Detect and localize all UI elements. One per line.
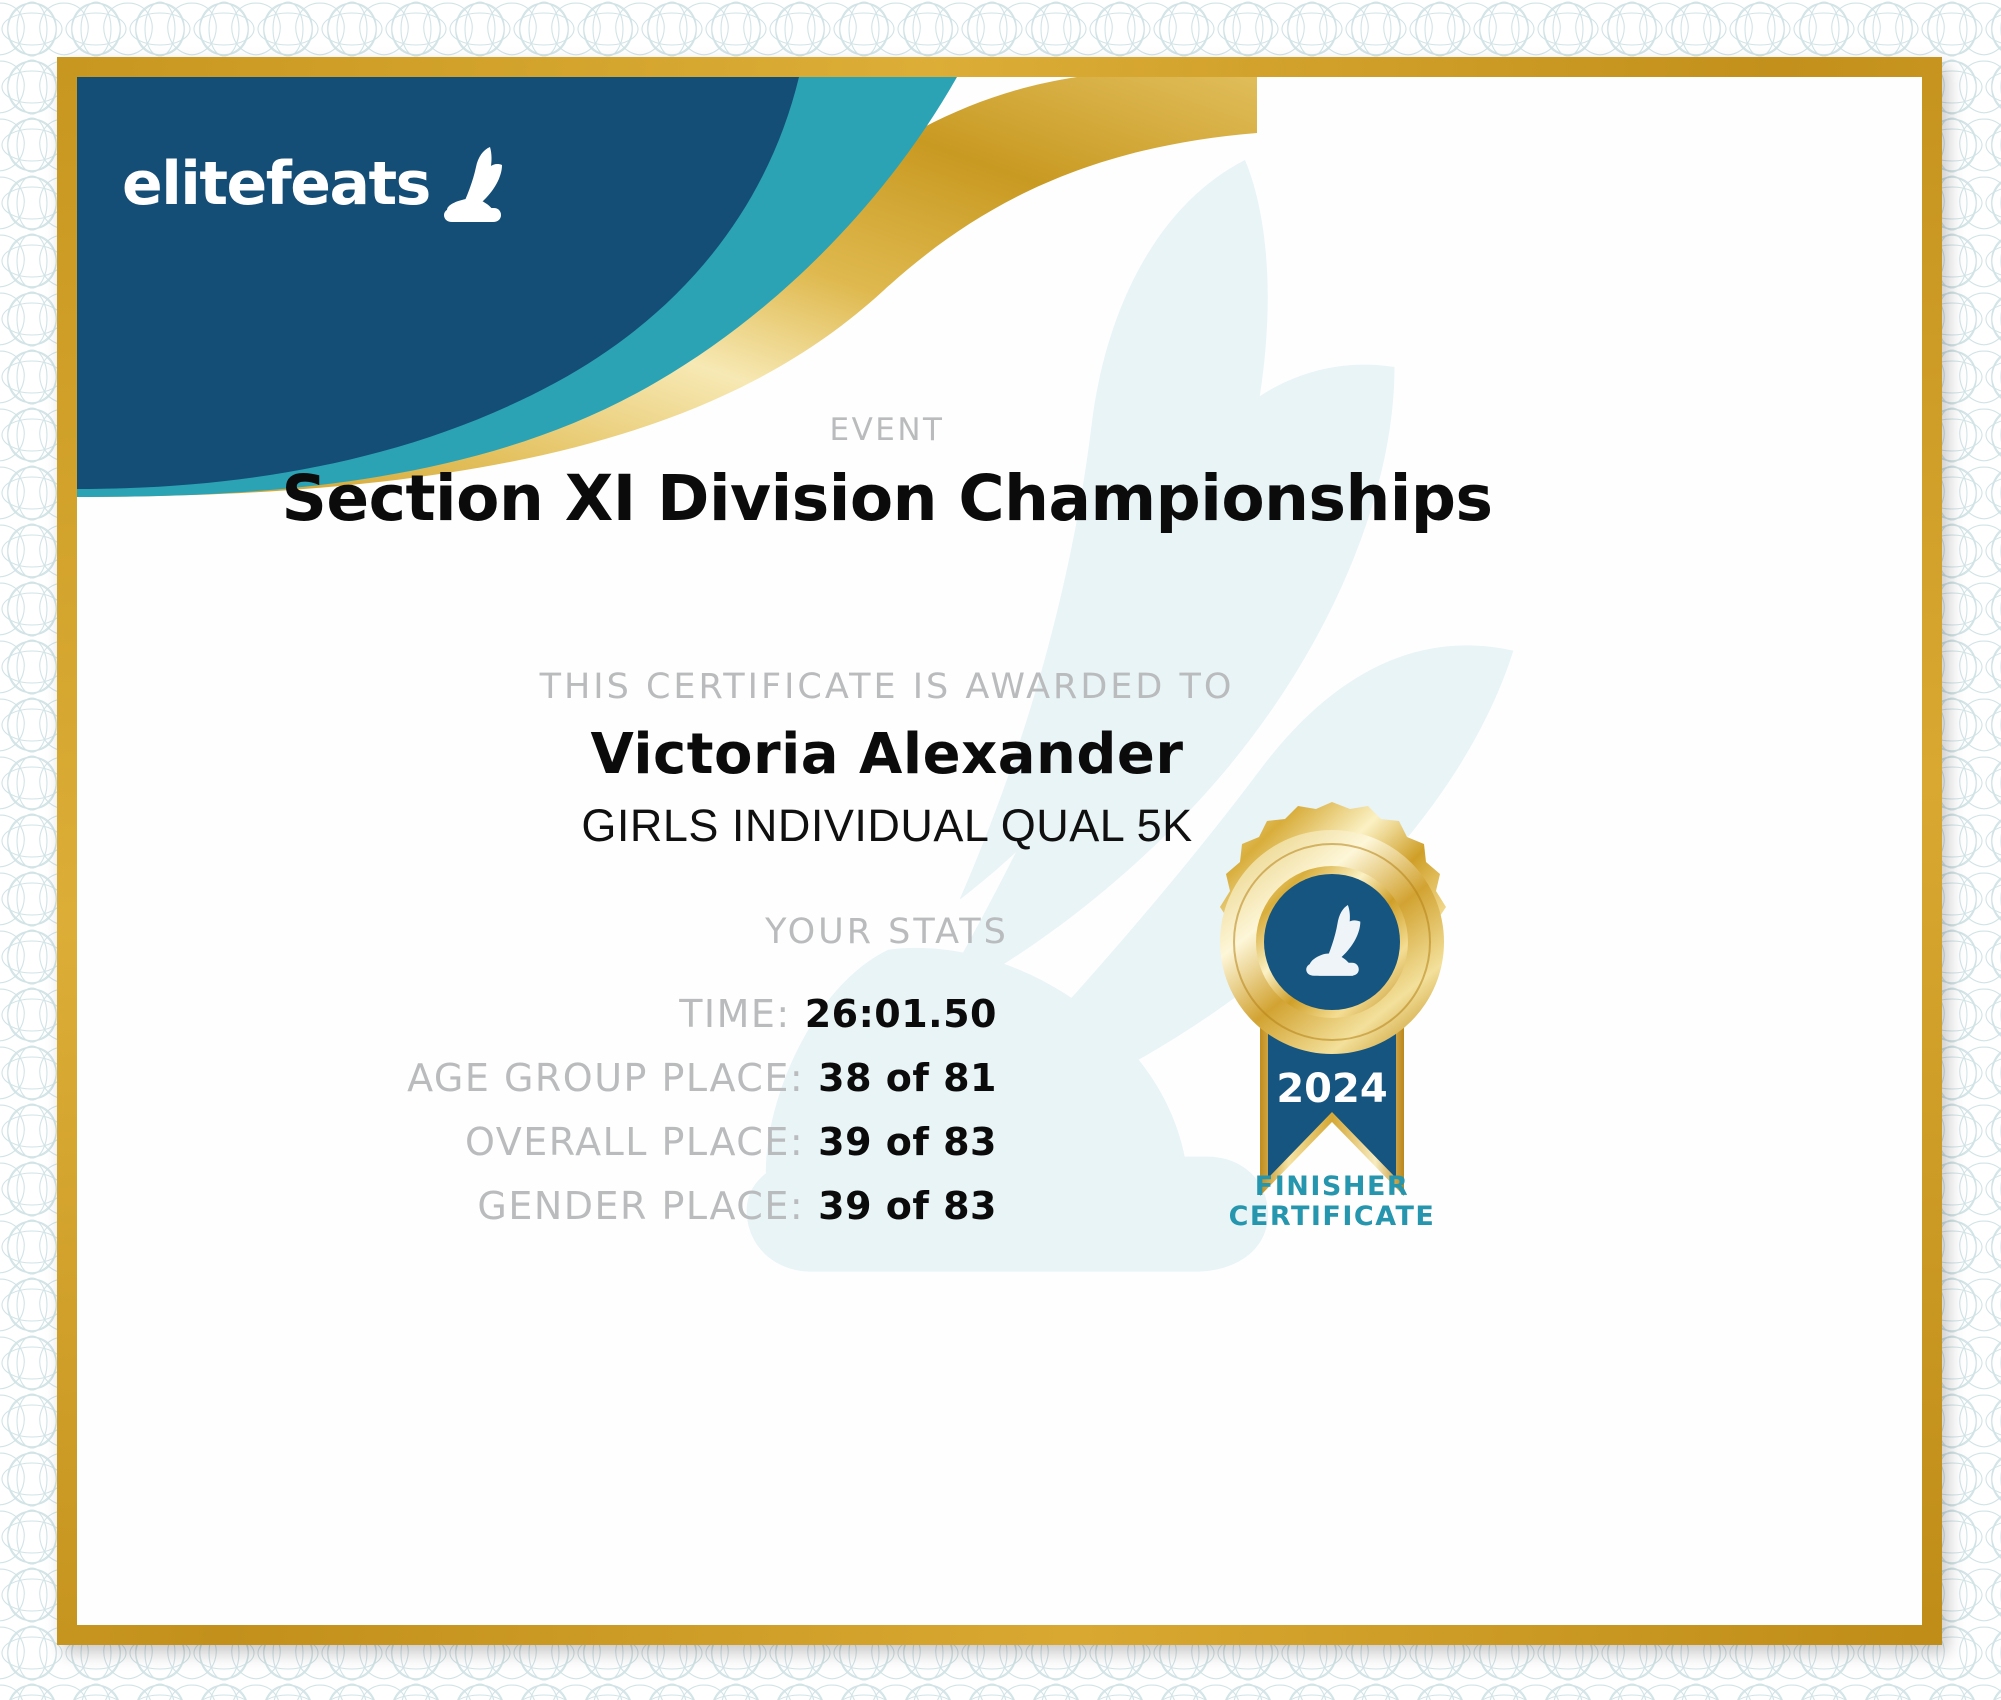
stat-label: GENDER PLACE: bbox=[477, 1184, 804, 1228]
certificate-gold-frame: elitefeats EVENT Section XI Division Cha… bbox=[57, 57, 1942, 1645]
badge-year: 2024 bbox=[1276, 1066, 1387, 1112]
awarded-to-label: THIS CERTIFICATE IS AWARDED TO bbox=[77, 667, 1697, 707]
stat-label: AGE GROUP PLACE: bbox=[407, 1056, 804, 1100]
stat-row-gender-place: GENDER PLACE: 39 of 83 bbox=[377, 1184, 997, 1248]
badge-caption: FINISHER CERTIFICATE bbox=[1182, 1172, 1482, 1232]
winged-foot-icon bbox=[436, 145, 512, 223]
event-label: EVENT bbox=[77, 412, 1697, 448]
recipient-name: Victoria Alexander bbox=[77, 722, 1697, 787]
stat-value: 26:01.50 bbox=[805, 992, 997, 1036]
medal-disc bbox=[1220, 802, 1446, 1054]
brand-logo: elitefeats bbox=[122, 145, 512, 223]
stat-label: OVERALL PLACE: bbox=[465, 1120, 804, 1164]
stat-row-overall-place: OVERALL PLACE: 39 of 83 bbox=[377, 1120, 997, 1184]
stat-value: 39 of 83 bbox=[818, 1184, 997, 1228]
certificate-inner-surface: elitefeats EVENT Section XI Division Cha… bbox=[77, 77, 1922, 1625]
badge-caption-line2: CERTIFICATE bbox=[1182, 1202, 1482, 1232]
stat-row-time: TIME: 26:01.50 bbox=[377, 992, 997, 1056]
event-title: Section XI Division Championships bbox=[77, 462, 1697, 535]
stat-value: 39 of 83 bbox=[818, 1120, 997, 1164]
badge-caption-line1: FINISHER bbox=[1182, 1172, 1482, 1202]
stats-list: TIME: 26:01.50 AGE GROUP PLACE: 38 of 81… bbox=[377, 992, 997, 1248]
certificate-page: elitefeats EVENT Section XI Division Cha… bbox=[0, 0, 2001, 1700]
brand-wordmark: elitefeats bbox=[122, 154, 430, 214]
stat-label: TIME: bbox=[679, 992, 791, 1036]
stat-row-age-group-place: AGE GROUP PLACE: 38 of 81 bbox=[377, 1056, 997, 1120]
stat-value: 38 of 81 bbox=[818, 1056, 997, 1100]
